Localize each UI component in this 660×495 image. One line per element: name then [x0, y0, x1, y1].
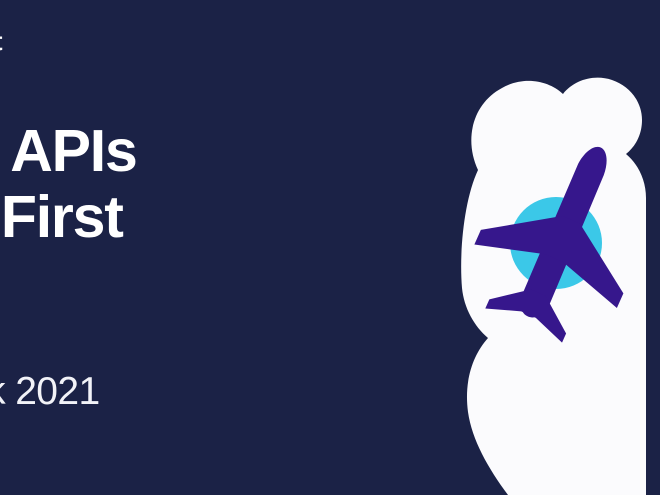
headline-line-2: d Fly First	[0, 184, 137, 250]
banner-text-layer: rant Your APIs d Fly First rWeek 2021	[0, 0, 430, 495]
headline-line-1: Your APIs	[0, 118, 137, 184]
airplane-icon	[452, 117, 660, 358]
banner-subhead: rWeek 2021	[0, 370, 100, 414]
brand-logo-text: rant	[0, 26, 2, 57]
banner-headline: Your APIs d Fly First	[0, 118, 137, 250]
cloud-shape	[461, 78, 646, 495]
promo-banner: rant Your APIs d Fly First rWeek 2021	[0, 0, 660, 495]
cyan-circle	[510, 197, 602, 289]
